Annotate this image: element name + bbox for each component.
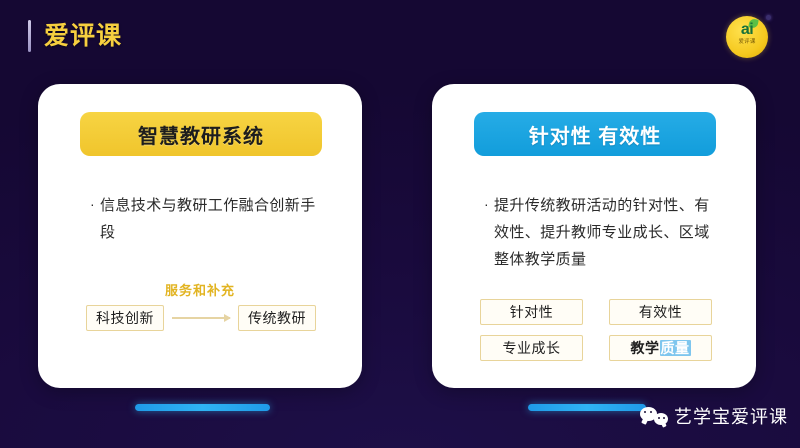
slide-header: 爱评课 ai 爱评课 bbox=[0, 0, 800, 72]
tag-item: 针对性 bbox=[480, 299, 583, 325]
card-left-bullet-block: · 信息技术与教研工作融合创新手段 bbox=[90, 192, 330, 246]
arrow-right-icon bbox=[172, 317, 230, 319]
header-accent-bar bbox=[28, 20, 31, 52]
card-left-bullet-text: 信息技术与教研工作融合创新手段 bbox=[100, 192, 330, 246]
accent-bar-right bbox=[528, 404, 646, 411]
flow-chip-to: 传统教研 bbox=[238, 305, 316, 331]
bullet-row: · 提升传统教研活动的针对性、有效性、提升教师专业成长、区域整体教学质量 bbox=[484, 192, 724, 273]
flow-diagram: 科技创新 传统教研 bbox=[86, 305, 316, 331]
tag-label: 有效性 bbox=[639, 304, 683, 320]
tag-item: 有效性 bbox=[609, 299, 712, 325]
bullet-row: · 信息技术与教研工作融合创新手段 bbox=[90, 192, 330, 246]
logo-mark-text: ai bbox=[726, 21, 768, 39]
accent-bar-left bbox=[135, 404, 270, 411]
flow-label: 服务和补充 bbox=[38, 282, 362, 300]
logo-sub-text: 爱评课 bbox=[726, 38, 768, 46]
card-right-bullet-block: · 提升传统教研活动的针对性、有效性、提升教师专业成长、区域整体教学质量 bbox=[484, 192, 724, 273]
tag-label: 教学 bbox=[631, 340, 660, 356]
tag-item: 专业成长 bbox=[480, 335, 583, 361]
card-left-badge: 智慧教研系统 bbox=[80, 112, 322, 156]
page-title: 爱评课 bbox=[44, 19, 122, 53]
tag-label-highlight: 质量 bbox=[660, 340, 691, 356]
footer-brand-text: 艺学宝爱评课 bbox=[674, 405, 788, 429]
card-right-badge: 针对性 有效性 bbox=[474, 112, 716, 156]
bullet-marker-icon: · bbox=[90, 201, 100, 207]
logo-spark-icon bbox=[766, 15, 771, 20]
content-card-left: 智慧教研系统 · 信息技术与教研工作融合创新手段 服务和补充 科技创新 传统教研 bbox=[38, 84, 362, 388]
tag-label: 针对性 bbox=[510, 304, 554, 320]
ai-brand-logo: ai 爱评课 bbox=[724, 12, 772, 60]
footer-brand: 艺学宝爱评课 bbox=[640, 404, 788, 430]
bullet-marker-icon: · bbox=[484, 201, 494, 207]
content-card-right: 针对性 有效性 · 提升传统教研活动的针对性、有效性、提升教师专业成长、区域整体… bbox=[432, 84, 756, 388]
flow-chip-from: 科技创新 bbox=[86, 305, 164, 331]
keyword-tag-grid: 针对性 有效性 专业成长 教学质量 bbox=[480, 299, 712, 361]
slide-root: 爱评课 ai 爱评课 智慧教研系统 · 信息技术与教研工作融合创新手段 服务和补… bbox=[0, 0, 800, 448]
wechat-icon bbox=[640, 406, 668, 428]
card-right-bullet-text: 提升传统教研活动的针对性、有效性、提升教师专业成长、区域整体教学质量 bbox=[494, 192, 724, 273]
tag-item-highlighted: 教学质量 bbox=[609, 335, 712, 361]
tag-label: 专业成长 bbox=[503, 340, 561, 356]
